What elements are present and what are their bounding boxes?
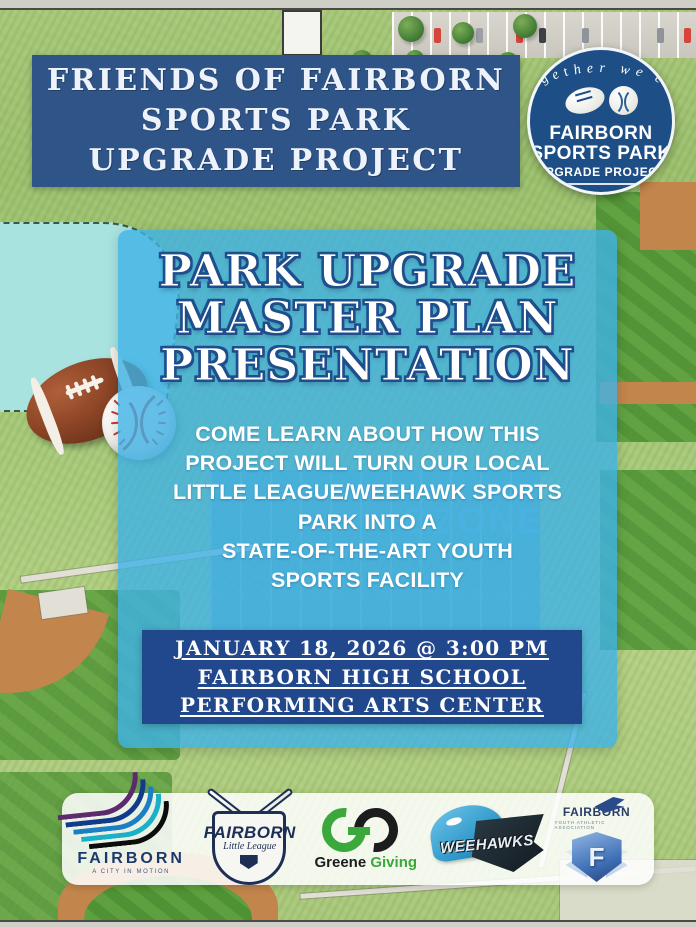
access-road bbox=[0, 0, 696, 10]
car-icon bbox=[539, 28, 546, 43]
body-copy-line-4: PARK INTO A bbox=[140, 508, 595, 537]
sponsor-tagline: Little League bbox=[196, 841, 304, 852]
tree-icon bbox=[452, 22, 474, 44]
greene-giving-mark-icon bbox=[322, 808, 410, 852]
body-copy-line-5: STATE-OF-THE-ART YOUTH bbox=[140, 537, 595, 566]
sponsor-logo-greene-giving: Greene Giving bbox=[314, 799, 417, 879]
header-banner: FRIENDS OF FAIRBORN SPORTS PARK UPGRADE … bbox=[32, 55, 520, 187]
sponsor-logo-city-of-fairborn: FAIRBORN A CITY IN MOTION bbox=[77, 799, 185, 879]
shield-icon: F bbox=[572, 832, 622, 882]
fairborn-sports-park-upgrade-project-logo: Together we can FAIRBORN SPORTS PARK UPG… bbox=[527, 47, 675, 195]
sponsor-logo-weehawks: WEEHAWKS bbox=[428, 799, 544, 879]
sponsor-tagline: YOUTH ATHLETIC ASSOCIATION bbox=[555, 820, 639, 830]
event-flyer: DZONE bbox=[0, 0, 696, 927]
hawk-icon: WEEHAWKS bbox=[428, 802, 544, 876]
event-venue: FAIRBORN HIGH SCHOOL bbox=[198, 663, 526, 691]
sponsor-name: FAIRBORN bbox=[77, 850, 185, 868]
header-title: FRIENDS OF FAIRBORN SPORTS PARK UPGRADE … bbox=[32, 61, 520, 181]
body-copy-line-1: COME LEARN ABOUT HOW THIS bbox=[140, 420, 595, 449]
body-copy: COME LEARN ABOUT HOW THIS PROJECT WILL T… bbox=[140, 420, 595, 595]
logo-underline bbox=[564, 183, 638, 185]
body-copy-line-2: PROJECT WILL TURN OUR LOCAL bbox=[140, 449, 595, 478]
logo-line-1: FAIRBORN bbox=[530, 123, 672, 145]
car-icon bbox=[582, 28, 589, 43]
logo-line-2: SPORTS PARK bbox=[530, 143, 672, 165]
car-icon bbox=[434, 28, 441, 43]
sponsor-logo-fairborn-youth-athletic-association: FAIRBORN YOUTH ATHLETIC ASSOCIATION F bbox=[555, 799, 639, 879]
sponsor-logo-bar: FAIRBORN A CITY IN MOTION FAIRBORN Littl… bbox=[62, 793, 654, 885]
tree-icon bbox=[513, 14, 537, 38]
sponsor-name: FAIRBORN bbox=[196, 823, 304, 843]
ball-field-infield bbox=[640, 182, 696, 250]
swoosh-icon bbox=[83, 803, 179, 849]
car-icon bbox=[657, 28, 664, 43]
south-road bbox=[0, 920, 696, 927]
event-venue-detail: PERFORMING ARTS CENTER bbox=[180, 691, 544, 719]
monogram: F bbox=[589, 842, 605, 873]
building-footprint bbox=[282, 10, 322, 56]
logo-line-3: UPGRADE PROJECT bbox=[530, 165, 672, 179]
body-copy-line-3: LITTLE LEAGUE/WEEHAWK SPORTS bbox=[140, 478, 595, 507]
car-icon bbox=[684, 28, 691, 43]
baseball-diamond-icon: FAIRBORN Little League bbox=[196, 801, 304, 877]
main-title: PARK UPGRADE MASTER PLAN PRESENTATION bbox=[118, 248, 617, 389]
main-title-line-2: MASTER PLAN bbox=[118, 295, 617, 342]
logo-tagline: Together we can bbox=[530, 61, 672, 77]
event-datetime: JANUARY 18, 2026 @ 3:00 PM bbox=[175, 634, 549, 662]
baseball-icon bbox=[609, 86, 638, 115]
sponsor-logo-fairborn-little-league: FAIRBORN Little League bbox=[196, 799, 304, 879]
event-details-box: JANUARY 18, 2026 @ 3:00 PM FAIRBORN HIGH… bbox=[142, 630, 582, 724]
logo-ball-icons bbox=[530, 86, 672, 120]
sponsor-name: Greene Giving bbox=[314, 854, 417, 871]
main-title-line-3: PRESENTATION bbox=[118, 342, 617, 389]
main-title-line-1: PARK UPGRADE bbox=[118, 248, 617, 295]
parking-lot bbox=[392, 12, 696, 58]
car-icon bbox=[476, 28, 483, 43]
tree-icon bbox=[398, 16, 424, 42]
sponsor-tagline: A CITY IN MOTION bbox=[92, 869, 170, 875]
body-copy-line-6: SPORTS FACILITY bbox=[140, 566, 595, 595]
